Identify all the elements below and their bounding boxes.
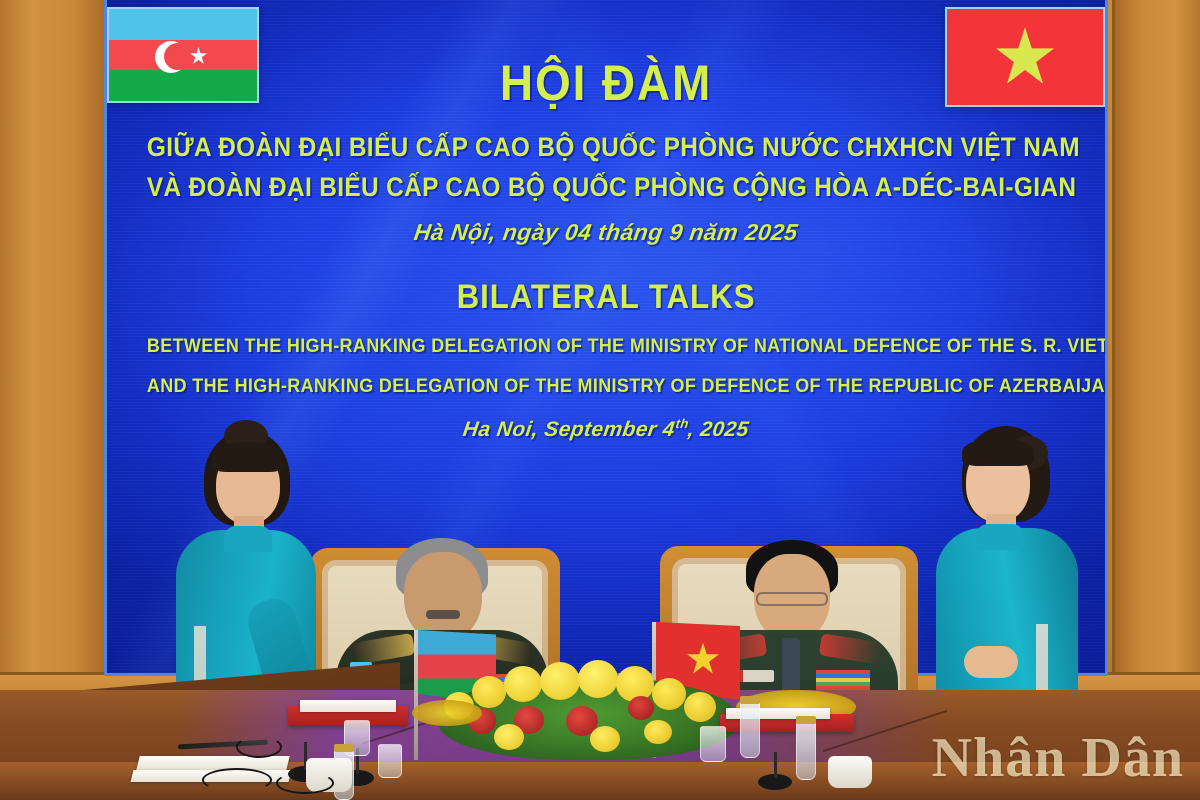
banner-date-en-suffix: , 2025 [686,418,750,441]
banner-title-en: BILATERAL TALKS [147,280,1065,316]
water-bottle [796,720,816,780]
water-glass [378,744,402,778]
azerbaijan-minister-face [404,552,482,642]
microphone-cable [202,768,272,792]
microphone-cable [276,772,334,794]
banner-subtitle-en-2: AND THE HIGH-RANKING DELEGATION OF THE M… [147,376,1065,396]
flower-spray-left [412,700,482,726]
water-bottle-cap [796,716,816,724]
usher-right-fringe [962,438,1034,466]
wall-panel-right [1112,0,1200,690]
banner-title-vi: HỘI ĐÀM [147,57,1065,110]
azerbaijan-desk-flag-pole [414,630,418,760]
yellow-rose [684,692,716,722]
microphone-cable [236,736,282,758]
teacup [828,756,872,788]
banner-subtitle-en-1: BETWEEN THE HIGH-RANKING DELEGATION OF T… [147,336,1065,356]
yellow-rose [578,660,618,698]
water-bottle-cap [740,696,760,704]
microphone-arm [774,752,777,778]
eyeglasses-icon [756,592,828,606]
yellow-rose [472,676,506,708]
vietnam-minister-tie [782,638,800,694]
wall-panel-left [0,0,108,680]
banner-subtitle-vi-2: VÀ ĐOÀN ĐẠI BIỂU CẤP CAO BỘ QUỐC PHÒNG C… [147,174,1065,202]
document-stack-left [136,756,289,770]
banner-date-en-prefix: Ha Noi, September 4 [461,418,676,441]
yellow-rose [644,720,672,744]
usher-left-fringe [212,442,284,472]
document-azerbaijan [300,700,396,712]
yellow-rose [504,666,542,702]
screenshot-root: HỘI ĐÀM GIỮA ĐOÀN ĐẠI BIỂU CẤP CAO BỘ QU… [0,0,1200,800]
yellow-rose [494,724,524,750]
water-bottle [740,700,760,758]
banner-text-block: HỘI ĐÀM GIỮA ĐOÀN ĐẠI BIỂU CẤP CAO BỘ QU… [107,0,1105,441]
usher-left-collar [224,526,272,552]
azerbaijan-minister-moustache [426,610,460,619]
water-glass [700,726,726,762]
red-rose [628,696,654,720]
banner-date-vi: Hà Nội, ngày 04 tháng 9 năm 2025 [105,220,1106,244]
yellow-rose [590,726,620,752]
yellow-rose [652,678,686,710]
watermark-nhan-dan-overlay: Nhân Dân [932,726,1184,790]
usher-right-hands [964,646,1018,678]
flower-arrangement [438,636,738,760]
yellow-rose [540,662,580,700]
water-bottle-cap [334,744,354,752]
banner-subtitle-vi-1: GIỮA ĐOÀN ĐẠI BIỂU CẤP CAO BỘ QUỐC PHÒNG… [147,134,1065,162]
usher-right-collar [976,524,1024,550]
